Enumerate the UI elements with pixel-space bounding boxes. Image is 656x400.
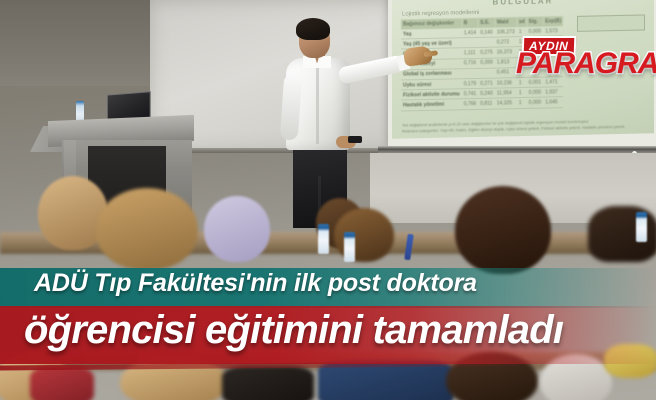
row-sd: 1 [517,98,527,108]
row-wald: 0,272 [495,37,517,48]
audience-head [334,208,394,262]
row-exp: 1,573 [543,26,563,36]
logo-wordmark-paragraf: PARAGRAF [516,49,656,79]
row-sd: 1 [517,88,527,98]
row-wald: 16,373 [495,47,517,58]
row-se: 0,240 [478,88,495,99]
row-se [478,37,495,48]
row-exp: 1,937 [543,87,563,98]
row-wald: 0,451 [495,67,517,78]
news-photo-card: BULGULAR Lojistik regresyon modellerini … [0,0,656,400]
audience-shoulder-dark [222,366,314,400]
row-wald: 10,236 [495,78,517,89]
slide-title: BULGULAR [392,0,654,9]
water-bottle [318,224,329,254]
audience-head [455,186,551,274]
row-b: 1,414 [462,28,479,38]
slide-th-3: Wald [495,17,517,27]
row-se: 0,271 [478,78,495,89]
row-sig: 0,000 [527,87,544,98]
presenter-remote [348,136,362,143]
row-se: 0,275 [478,47,495,58]
water-bottle [636,212,647,242]
row-sig: 0,000 [527,97,544,108]
headline-line-1: ADÜ Tıp Fakültesi'nin ilk post doktora [34,271,477,296]
audience-head [96,188,198,270]
row-wald: 106,273 [495,27,517,37]
row-wald: 11,954 [495,88,517,99]
slide-th-6: Exp(B) [543,16,563,26]
row-b: 0,716 [462,58,479,69]
slide-th-5: Sig. [527,17,544,27]
row-b [462,38,479,49]
slide-th-4: sd [517,17,527,27]
row-b: 0,741 [462,89,479,100]
row-b [462,68,479,79]
slide-th-1: B [462,18,479,28]
row-se: 0,399 [478,58,495,69]
site-logo[interactable]: AYDIN PARAGRAF [516,36,652,86]
presenter-hair [296,18,330,40]
screen-bottom-rail [378,146,656,153]
presenter-shirt-placket [316,62,319,144]
row-wald: 1,813 [495,57,517,68]
table-row: Hastalık yönetimi 0,766 0,811 14,325 1 0… [401,97,563,111]
slide-th-2: S.E. [478,18,495,28]
slide-subtitle: Lojistik regresyon modellerini [402,10,479,18]
audience-head-scarf [204,196,270,262]
row-b: 0,179 [462,78,479,89]
row-se: 0,811 [478,98,495,109]
audience-shoulder-red [30,366,94,400]
water-bottle [344,232,355,262]
slide-footnotes: Tek değişkenli analizlerde p<0,20 olan d… [402,117,646,134]
row-se [478,68,495,79]
headline-line-2: öğrencisi eğitimini tamamladı [24,310,563,350]
slide-legend-box [577,14,645,31]
row-b: 1,111 [462,48,479,59]
row-b: 0,766 [462,99,479,110]
row-wald: 14,325 [495,98,517,109]
row-label: Hastalık yönetimi [401,99,462,110]
row-exp: 1,645 [543,97,563,108]
row-se: 0,140 [478,28,495,38]
